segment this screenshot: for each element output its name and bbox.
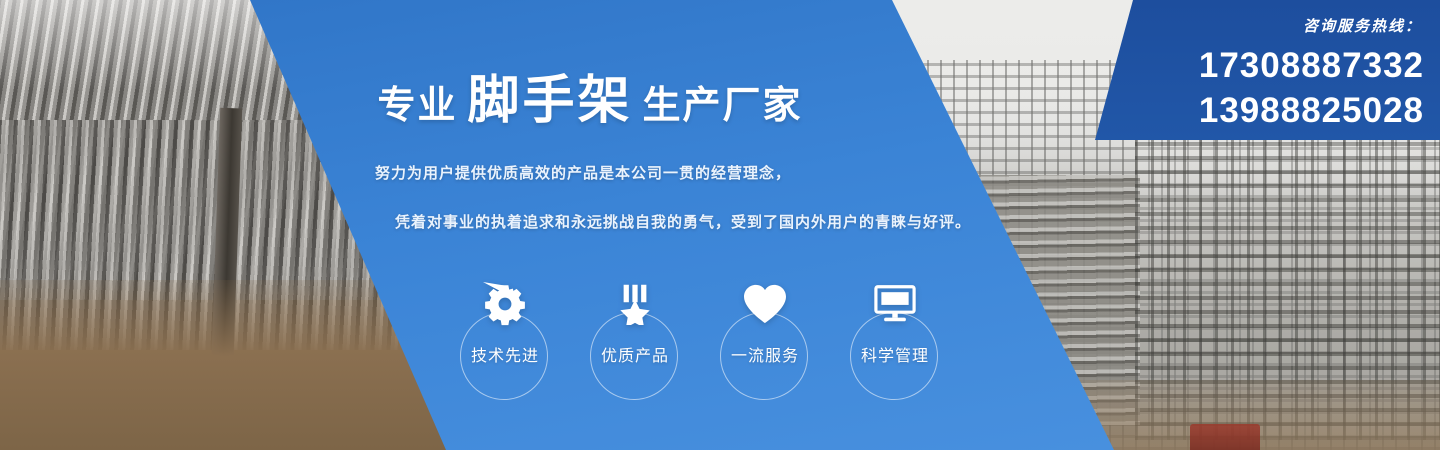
feature-label: 优质产品 [590, 342, 680, 366]
medal-icon [611, 280, 659, 328]
gear-icon [481, 280, 529, 328]
hotline-phone-1[interactable]: 17308887332 [1199, 48, 1424, 83]
feature-label: 技术先进 [460, 342, 550, 366]
feature-label: 一流服务 [720, 342, 810, 366]
feature-item-management[interactable]: 科学管理 [850, 312, 940, 402]
title-part-1: 专业 [377, 85, 457, 127]
promo-banner: 专业脚手架生产厂家 努力为用户提供优质高效的产品是本公司一贯的经营理念， 凭着对… [0, 0, 1440, 450]
red-object [1190, 424, 1260, 450]
hotline-phone-2[interactable]: 13988825028 [1199, 93, 1424, 128]
monitor-icon [871, 280, 919, 328]
page-title: 专业脚手架生产厂家 [0, 58, 1180, 133]
feature-item-technology[interactable]: 技术先进 [460, 312, 550, 402]
subtitle-line-2: 凭着对事业的执着追求和永远挑战自我的勇气，受到了国内外用户的青睐与好评。 [395, 211, 971, 232]
title-part-2: 脚手架 [467, 72, 632, 130]
feature-item-quality[interactable]: 优质产品 [590, 312, 680, 402]
hotline-label: 咨询服务热线： [1303, 15, 1422, 36]
feature-item-service[interactable]: 一流服务 [720, 312, 810, 402]
heart-icon [741, 280, 789, 328]
feature-label: 科学管理 [850, 342, 940, 366]
feature-list: 技术先进 优质产品 一流服务 [460, 312, 940, 402]
hotline-banner: 咨询服务热线： 17308887332 13988825028 [1095, 0, 1440, 140]
subtitle-line-1: 努力为用户提供优质高效的产品是本公司一贯的经营理念， [375, 162, 791, 183]
title-part-3: 生产厂家 [643, 85, 803, 127]
